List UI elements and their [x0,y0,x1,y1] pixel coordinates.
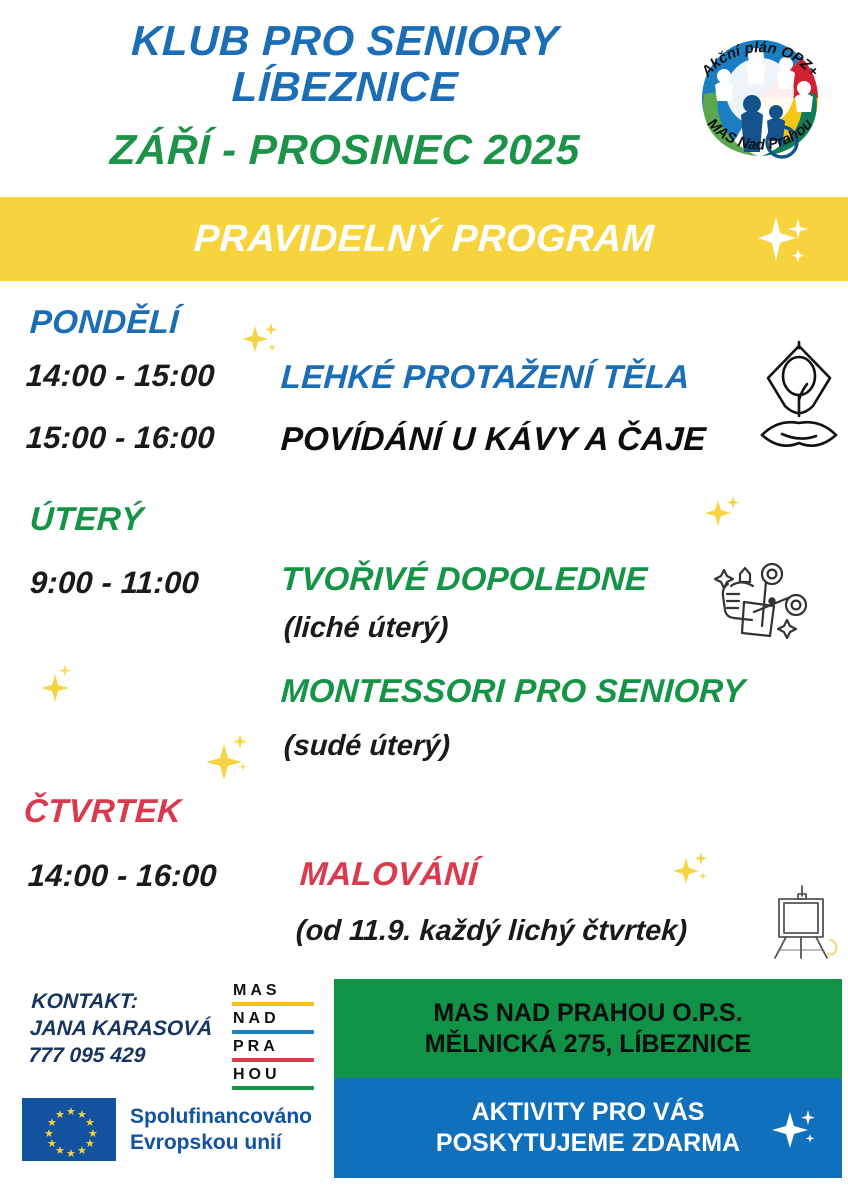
mas-wordmark-rule [232,1086,314,1090]
mas-wordmark-row: PRA [232,1038,314,1058]
poster-date-range: ZÁŘÍ - PROSINEC 2025 [0,126,691,174]
poster-header: KLUB PRO SENIORY LÍBEZNICE ZÁŘÍ - PROSIN… [0,0,848,197]
free-line-1: AKTIVITY PRO VÁS [436,1097,740,1128]
activity-monday-1: LEHKÉ PROTAŽENÍ TĚLA [280,358,691,396]
free-activities-text: AKTIVITY PRO VÁS POSKYTUJEME ZDARMA [436,1097,740,1159]
activity-tuesday-2: MONTESSORI PRO SENIORY [280,672,746,710]
day-label-tuesday: ÚTERÝ [29,500,144,538]
sparkle-icon [670,846,714,897]
time-thursday-1: 14:00 - 16:00 [27,858,218,894]
sparkle-icon [38,660,78,711]
activity-monday-2: POVÍDÁNÍ U KÁVY A ČAJE [280,420,707,458]
sparkle-icon [204,728,256,793]
address-box: MAS NAD PRAHOU O.P.S. MĚLNICKÁ 275, LÍBE… [334,979,842,1078]
contact-name: JANA KARASOVÁ [29,1015,213,1042]
sparkle-icon [754,211,810,267]
program-band-label: PRAVIDELNÝ PROGRAM [193,218,655,261]
sparkle-icon [700,490,744,539]
eu-flag-icon: ★ ★ ★ ★ ★ ★ ★ ★ ★ ★ ★ ★ [22,1098,116,1161]
mas-wordmark-rule [232,1058,314,1062]
mas-nad-prahou-wordmark: MAS NAD PRA HOU [232,982,314,1094]
eu-text-line-1: Spolufinancováno [130,1104,312,1130]
address-line-1: MAS NAD PRAHOU O.P.S. [425,998,751,1029]
activity-tuesday-1: TVOŘIVÉ DOPOLEDNE [280,560,648,598]
eu-cofunding-block: ★ ★ ★ ★ ★ ★ ★ ★ ★ ★ ★ ★ Spolufinancováno… [22,1098,312,1161]
day-label-monday: PONDĚLÍ [29,303,180,341]
eu-cofunding-text: Spolufinancováno Evropskou unií [130,1104,312,1156]
mas-wordmark-row: NAD [232,1010,314,1030]
easel-icon [760,882,844,965]
mas-wordmark-letter: HOU [233,1066,281,1084]
mas-wordmark-row: HOU [232,1066,314,1086]
sparkle-icon [772,1104,820,1152]
scissors-craft-icon [704,548,816,657]
note-tuesday-1: (liché úterý) [283,612,449,645]
poster-title-line-1: KLUB PRO SENIORY [0,18,691,64]
poster-root: KLUB PRO SENIORY LÍBEZNICE ZÁŘÍ - PROSIN… [0,0,848,1200]
mas-wordmark-letter: NAD [233,1010,280,1028]
title-block: KLUB PRO SENIORY LÍBEZNICE ZÁŘÍ - PROSIN… [0,18,690,174]
time-tuesday-1: 9:00 - 11:00 [29,565,200,601]
note-tuesday-2: (sudé úterý) [283,730,451,763]
mas-wordmark-letter: MAS [233,982,281,1000]
mas-wordmark-row: MAS [232,982,314,1002]
mas-wordmark-letter: PRA [233,1038,279,1056]
free-line-2: POSKYTUJEME ZDARMA [436,1128,740,1159]
note-thursday-1: (od 11.9. každý lichý čtvrtek) [295,915,688,948]
contact-block: KONTAKT: JANA KARASOVÁ 777 095 429 [28,988,215,1069]
program-band: PRAVIDELNÝ PROGRAM [0,197,848,281]
poster-title-line-2: LÍBEZNICE [0,64,691,110]
contact-phone[interactable]: 777 095 429 [28,1042,212,1069]
time-monday-1: 14:00 - 15:00 [25,358,216,394]
day-label-thursday: ČTVRTEK [23,792,182,830]
address-text: MAS NAD PRAHOU O.P.S. MĚLNICKÁ 275, LÍBE… [425,998,751,1060]
free-activities-box: AKTIVITY PRO VÁS POSKYTUJEME ZDARMA [334,1078,842,1178]
contact-label: KONTAKT: [31,988,215,1015]
address-line-2: MĚLNICKÁ 275, LÍBEZNICE [425,1029,751,1060]
time-monday-2: 15:00 - 16:00 [25,420,216,456]
mas-wordmark-rule [232,1002,314,1006]
eu-text-line-2: Evropskou unií [130,1130,312,1156]
yoga-pose-icon [752,334,846,459]
mas-nad-prahou-circular-logo: Akční plán OPZ+ MAS Nad Prahou [680,6,840,184]
activity-thursday-1: MALOVÁNÍ [299,855,479,893]
sparkle-icon [240,318,282,365]
mas-wordmark-rule [232,1030,314,1034]
